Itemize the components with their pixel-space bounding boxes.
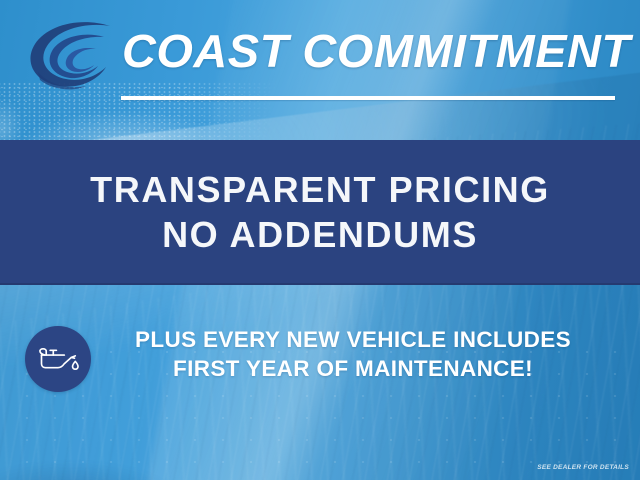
- headline-banner: TRANSPARENT PRICING NO ADDENDUMS: [0, 140, 640, 285]
- coast-commitment-banner-ad: COAST COMMITMENT TRANSPARENT PRICING NO …: [0, 0, 640, 480]
- header: COAST COMMITMENT: [0, 0, 640, 120]
- promo-section: PLUS EVERY NEW VEHICLE INCLUDES FIRST YE…: [0, 300, 640, 440]
- brand-title-wrapper: COAST COMMITMENT: [122, 22, 622, 80]
- promo-line-1: PLUS EVERY NEW VEHICLE INCLUDES: [108, 326, 598, 355]
- coast-wave-logo-icon: [22, 20, 118, 96]
- oil-can-badge: [25, 326, 91, 392]
- brand-title: COAST COMMITMENT: [122, 28, 631, 74]
- header-divider: [121, 96, 615, 100]
- headline-line-1: TRANSPARENT PRICING: [90, 171, 550, 210]
- oil-drop-icon: [73, 361, 79, 369]
- disclaimer-text: SEE DEALER FOR DETAILS: [537, 464, 629, 471]
- promo-text-block: PLUS EVERY NEW VEHICLE INCLUDES FIRST YE…: [108, 326, 598, 384]
- headline-banner-inner: TRANSPARENT PRICING NO ADDENDUMS: [0, 140, 640, 285]
- headline-line-2: NO ADDENDUMS: [162, 216, 478, 255]
- promo-line-2: FIRST YEAR OF MAINTENANCE!: [108, 355, 598, 384]
- oil-can-icon: [36, 344, 80, 374]
